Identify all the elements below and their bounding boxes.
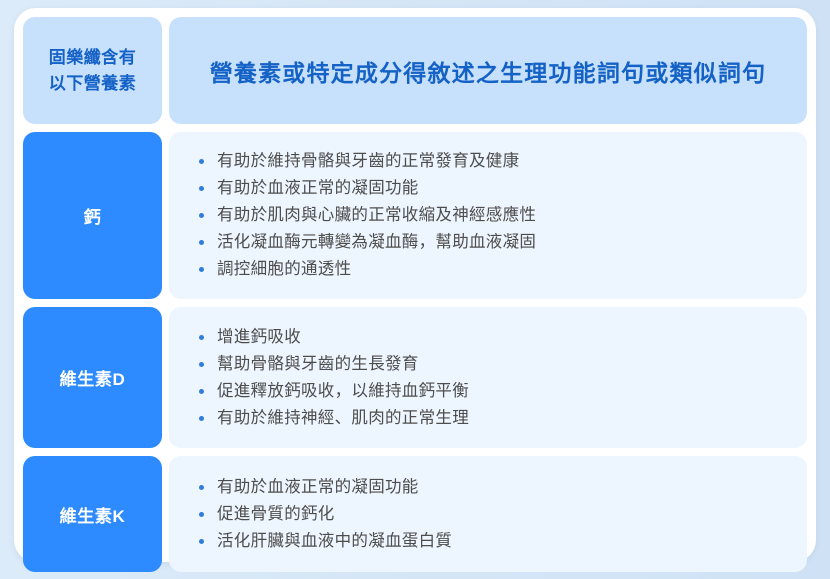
list-item: 促進骨質的鈣化 (195, 501, 789, 528)
bullet-text: 有助於血液正常的凝固功能 (217, 478, 419, 496)
bullet-text: 活化凝血酶元轉變為凝血酶，幫助血液凝固 (217, 233, 536, 251)
header-label-line1: 固樂纖含有 (49, 45, 137, 71)
bullet-text: 有助於維持骨骼與牙齒的正常發育及健康 (217, 152, 519, 170)
bullet-dot-icon (199, 362, 204, 367)
table-row: 維生素D 增進鈣吸收 幫助骨骼與牙齒的生長發育 促進釋放鈣吸收，以維持血鈣平衡 … (23, 307, 807, 448)
nutrient-claims-card: 固樂纖含有 以下營養素 營養素或特定成分得敘述之生理功能詞句或類似詞句 鈣 有助… (14, 8, 816, 562)
bullet-list: 有助於維持骨骼與牙齒的正常發育及健康 有助於血液正常的凝固功能 有助於肌肉與心臟… (195, 148, 789, 283)
bullet-text: 促進骨質的鈣化 (217, 505, 335, 523)
list-item: 有助於維持神經、肌肉的正常生理 (195, 405, 789, 432)
list-item: 有助於肌肉與心臟的正常收縮及神經感應性 (195, 202, 789, 229)
header-title-cell: 營養素或特定成分得敘述之生理功能詞句或類似詞句 (169, 17, 807, 124)
bullet-dot-icon (199, 539, 204, 544)
list-item: 有助於血液正常的凝固功能 (195, 175, 789, 202)
nutrient-name: 鈣 (84, 203, 102, 228)
bullet-text: 有助於維持神經、肌肉的正常生理 (217, 409, 469, 427)
nutrient-content-vitamin-d: 增進鈣吸收 幫助骨骼與牙齒的生長發育 促進釋放鈣吸收，以維持血鈣平衡 有助於維持… (169, 307, 807, 448)
table-row: 維生素K 有助於血液正常的凝固功能 促進骨質的鈣化 活化肝臟與血液中的凝血蛋白質 (23, 456, 807, 572)
bullet-dot-icon (199, 186, 204, 191)
nutrient-claims-table: 固樂纖含有 以下營養素 營養素或特定成分得敘述之生理功能詞句或類似詞句 鈣 有助… (23, 17, 807, 553)
header-label-line2: 以下營養素 (49, 71, 137, 97)
nutrient-label-vitamin-k: 維生素K (23, 456, 162, 572)
bullet-dot-icon (199, 240, 204, 245)
bullet-text: 增進鈣吸收 (217, 328, 301, 346)
bullet-list: 有助於血液正常的凝固功能 促進骨質的鈣化 活化肝臟與血液中的凝血蛋白質 (195, 474, 789, 555)
bullet-list: 增進鈣吸收 幫助骨骼與牙齒的生長發育 促進釋放鈣吸收，以維持血鈣平衡 有助於維持… (195, 324, 789, 432)
nutrient-name: 維生素K (60, 502, 126, 527)
nutrient-label-calcium: 鈣 (23, 132, 162, 299)
list-item: 促進釋放鈣吸收，以維持血鈣平衡 (195, 378, 789, 405)
nutrient-label-vitamin-d: 維生素D (23, 307, 162, 448)
list-item: 活化肝臟與血液中的凝血蛋白質 (195, 528, 789, 555)
table-header-row: 固樂纖含有 以下營養素 營養素或特定成分得敘述之生理功能詞句或類似詞句 (23, 17, 807, 124)
bullet-dot-icon (199, 416, 204, 421)
nutrient-content-calcium: 有助於維持骨骼與牙齒的正常發育及健康 有助於血液正常的凝固功能 有助於肌肉與心臟… (169, 132, 807, 299)
nutrient-content-vitamin-k: 有助於血液正常的凝固功能 促進骨質的鈣化 活化肝臟與血液中的凝血蛋白質 (169, 456, 807, 572)
list-item: 有助於維持骨骼與牙齒的正常發育及健康 (195, 148, 789, 175)
list-item: 增進鈣吸收 (195, 324, 789, 351)
bullet-dot-icon (199, 485, 204, 490)
bullet-text: 促進釋放鈣吸收，以維持血鈣平衡 (217, 382, 469, 400)
bullet-dot-icon (199, 159, 204, 164)
bullet-text: 有助於血液正常的凝固功能 (217, 179, 419, 197)
page-title: 營養素或特定成分得敘述之生理功能詞句或類似詞句 (210, 54, 767, 88)
bullet-text: 有助於肌肉與心臟的正常收縮及神經感應性 (217, 206, 536, 224)
nutrient-name: 維生素D (60, 365, 126, 390)
bullet-dot-icon (199, 389, 204, 394)
bullet-text: 活化肝臟與血液中的凝血蛋白質 (217, 532, 452, 550)
page-background: 固樂纖含有 以下營養素 營養素或特定成分得敘述之生理功能詞句或類似詞句 鈣 有助… (0, 0, 830, 579)
bullet-text: 幫助骨骼與牙齒的生長發育 (217, 355, 419, 373)
list-item: 幫助骨骼與牙齒的生長發育 (195, 351, 789, 378)
list-item: 調控細胞的通透性 (195, 256, 789, 283)
bullet-text: 調控細胞的通透性 (217, 260, 351, 278)
list-item: 有助於血液正常的凝固功能 (195, 474, 789, 501)
table-row: 鈣 有助於維持骨骼與牙齒的正常發育及健康 有助於血液正常的凝固功能 有助於肌肉與… (23, 132, 807, 299)
bullet-dot-icon (199, 335, 204, 340)
bullet-dot-icon (199, 512, 204, 517)
header-label-cell: 固樂纖含有 以下營養素 (23, 17, 162, 124)
bullet-dot-icon (199, 213, 204, 218)
list-item: 活化凝血酶元轉變為凝血酶，幫助血液凝固 (195, 229, 789, 256)
bullet-dot-icon (199, 267, 204, 272)
